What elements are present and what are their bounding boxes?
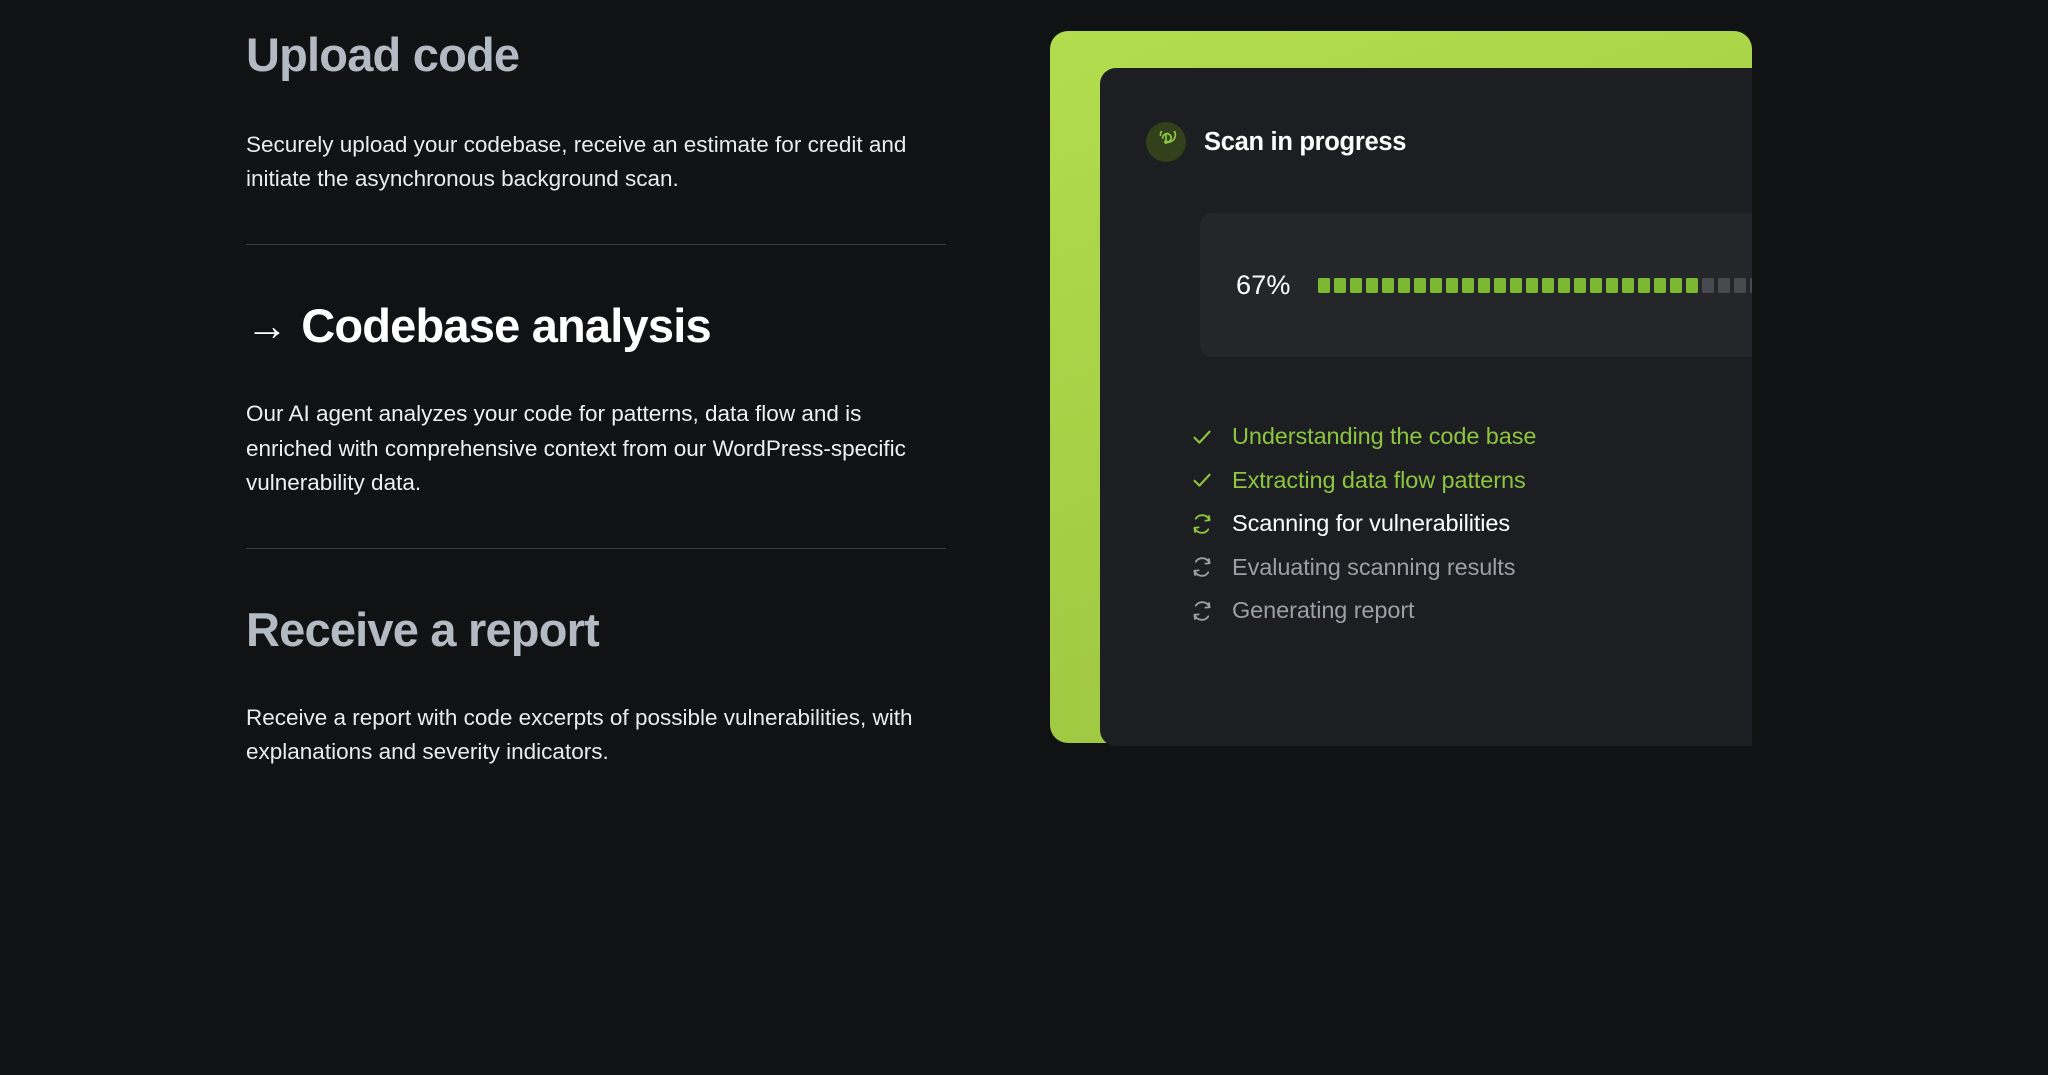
step-receive-a-report[interactable]: Receive a report Receive a report with c… [246,603,946,769]
checklist-item: Evaluating scanning results [1190,546,1536,590]
progress-segment [1638,278,1650,293]
arrow-right-icon: → [246,302,287,350]
checklist-item-label: Evaluating scanning results [1232,554,1515,581]
scan-card-header: Scan in progress [1146,122,1406,162]
page-root: Upload code Securely upload your codebas… [0,0,2048,1075]
scan-card: Scan in progress 67% Understanding the c… [1100,68,1752,746]
checklist-item: Extracting data flow patterns [1190,459,1536,503]
check-icon [1190,425,1214,449]
scan-visual: Scan in progress 67% Understanding the c… [1050,31,1752,746]
progress-segment [1670,278,1682,293]
progress-segment [1350,278,1362,293]
step-description: Securely upload your codebase, receive a… [246,128,946,196]
progress-segment-bar [1318,278,1752,293]
check-icon [1190,468,1214,492]
progress-segment [1382,278,1394,293]
progress-segment [1430,278,1442,293]
refresh-icon [1190,512,1214,536]
checklist-item: Generating report [1190,589,1536,633]
checklist-item-label: Extracting data flow patterns [1232,467,1526,494]
progress-segment [1750,278,1752,293]
progress-segment [1654,278,1666,293]
step-description: Our AI agent analyzes your code for patt… [246,397,936,500]
progress-segment [1366,278,1378,293]
checklist-item: Scanning for vulnerabilities [1190,502,1536,546]
refresh-icon [1190,599,1214,623]
progress-segment [1414,278,1426,293]
scan-progress-panel: 67% [1200,213,1752,357]
progress-segment [1734,278,1746,293]
refresh-icon [1190,555,1214,579]
progress-segment [1686,278,1698,293]
checklist-item-label: Scanning for vulnerabilities [1232,510,1510,537]
checklist-item-label: Generating report [1232,597,1415,624]
progress-segment [1702,278,1714,293]
progress-segment [1606,278,1618,293]
step-description: Receive a report with code excerpts of p… [246,701,926,769]
progress-segment [1398,278,1410,293]
step-title-text: Receive a report [246,603,599,656]
step-title: Upload code [246,28,946,82]
step-title-text: Upload code [246,28,519,81]
progress-percent-label: 67% [1236,270,1291,301]
step-upload-code[interactable]: Upload code Securely upload your codebas… [246,28,946,196]
radar-scan-icon [1146,122,1186,162]
scan-card-content: Scan in progress 67% Understanding the c… [1100,68,1752,746]
scan-checklist: Understanding the code baseExtracting da… [1190,415,1536,633]
progress-segment [1318,278,1330,293]
progress-segment [1542,278,1554,293]
progress-segment [1558,278,1570,293]
progress-segment [1334,278,1346,293]
step-title-text: Codebase analysis [301,299,711,352]
scan-card-title: Scan in progress [1204,128,1406,157]
checklist-item-label: Understanding the code base [1232,423,1536,450]
step-title: Receive a report [246,603,946,657]
step-title: →Codebase analysis [246,299,946,353]
checklist-item: Understanding the code base [1190,415,1536,459]
step-divider [246,548,946,549]
progress-segment [1494,278,1506,293]
progress-segment [1446,278,1458,293]
progress-segment [1526,278,1538,293]
progress-segment [1462,278,1474,293]
progress-segment [1574,278,1586,293]
progress-segment [1478,278,1490,293]
step-codebase-analysis[interactable]: →Codebase analysis Our AI agent analyzes… [246,299,946,500]
step-divider [246,244,946,245]
progress-segment [1590,278,1602,293]
progress-segment [1510,278,1522,293]
progress-segment [1622,278,1634,293]
steps-list: Upload code Securely upload your codebas… [246,28,946,769]
progress-segment [1718,278,1730,293]
